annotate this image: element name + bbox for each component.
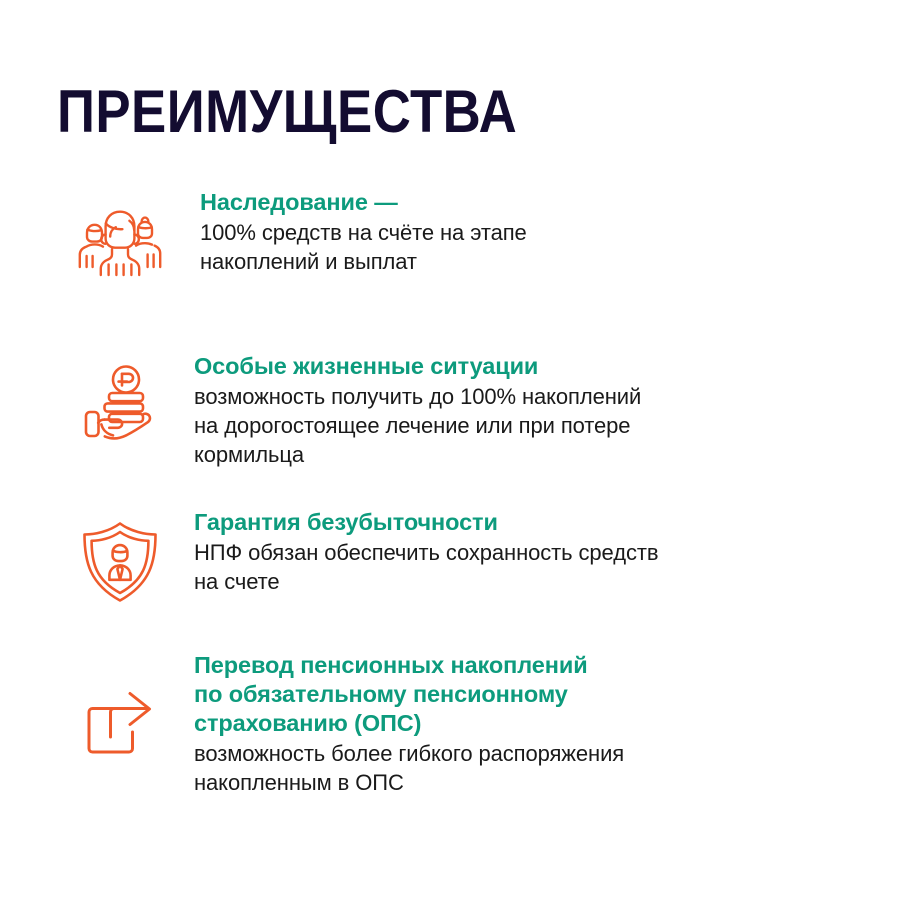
body-line: кормильца	[194, 440, 900, 469]
feature-body: возможность получить до 100% накоплений …	[194, 382, 900, 469]
heading-line: по обязательному пенсионному	[194, 680, 900, 709]
heading-line: страхованию (ОПС)	[194, 709, 900, 738]
feature-item-special-life-situations: Особые жизненные ситуации возможность по…	[0, 350, 900, 469]
family-group-icon	[72, 186, 168, 278]
feature-body: возможность более гибкого распоряжения н…	[194, 739, 900, 797]
feature-item-ops-transfer: Перевод пенсионных накоплений по обязате…	[0, 649, 900, 797]
feature-text-special-life-situations: Особые жизненные ситуации возможность по…	[168, 350, 900, 469]
heading-line: Наследование —	[200, 188, 900, 217]
heading-line: Гарантия безубыточности	[194, 508, 900, 537]
body-line: на дорогостоящее лечение или при потере	[194, 411, 900, 440]
page-title: ПРЕИМУЩЕСТВА	[57, 80, 517, 144]
feature-item-break-even-guarantee: Гарантия безубыточности НПФ обязан обесп…	[0, 506, 900, 606]
hand-with-ruble-coins-icon	[72, 350, 168, 450]
feature-heading: Перевод пенсионных накоплений по обязате…	[194, 651, 900, 738]
heading-line: Перевод пенсионных накоплений	[194, 651, 900, 680]
body-line: возможность более гибкого распоряжения	[194, 739, 900, 768]
body-line: возможность получить до 100% накоплений	[194, 382, 900, 411]
body-line: НПФ обязан обеспечить сохранность средст…	[194, 538, 900, 567]
body-line: накопленным в ОПС	[194, 768, 900, 797]
feature-text-inheritance: Наследование — 100% средств на счёте на …	[168, 186, 900, 276]
feature-body: НПФ обязан обеспечить сохранность средст…	[194, 538, 900, 596]
body-line: накоплений и выплат	[200, 247, 900, 276]
feature-text-break-even-guarantee: Гарантия безубыточности НПФ обязан обесп…	[168, 506, 900, 596]
feature-heading: Наследование —	[200, 188, 900, 217]
heading-line: Особые жизненные ситуации	[194, 352, 900, 381]
feature-item-inheritance: Наследование — 100% средств на счёте на …	[0, 186, 900, 278]
export-arrow-icon	[72, 649, 168, 765]
feature-body: 100% средств на счёте на этапе накоплени…	[200, 218, 900, 276]
feature-text-ops-transfer: Перевод пенсионных накоплений по обязате…	[168, 649, 900, 797]
feature-heading: Особые жизненные ситуации	[194, 352, 900, 381]
body-line: 100% средств на счёте на этапе	[200, 218, 900, 247]
body-line: на счете	[194, 567, 900, 596]
slide-advantages: ПРЕИМУЩЕСТВА	[0, 0, 900, 900]
feature-heading: Гарантия безубыточности	[194, 508, 900, 537]
shield-with-person-icon	[72, 506, 168, 606]
